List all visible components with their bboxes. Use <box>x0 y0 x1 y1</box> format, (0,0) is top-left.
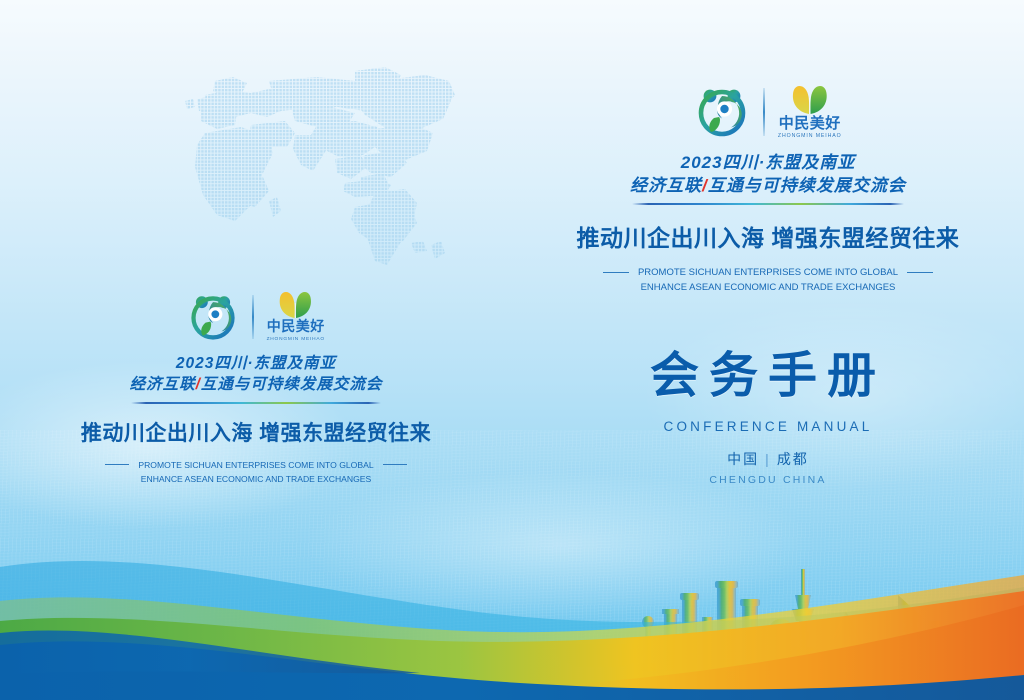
leaf-butterfly-emblem <box>277 291 314 319</box>
front-cover-header: 中民美好 ZHONGMIN MEIHAO 2023四川·东盟及南亚 经济互联/互… <box>512 84 1024 293</box>
manual-title-en: CONFERENCE MANUAL <box>512 419 1024 434</box>
rule-left <box>105 464 129 465</box>
slogan-en-line2: ENHANCE ASEAN ECONOMIC AND TRADE EXCHANG… <box>512 282 1024 293</box>
event-name-line2: 经济互联/互通与可持续发展交流会 <box>0 376 512 395</box>
country-cn: 中国 <box>727 451 759 467</box>
event-name-line1: 2023四川·东盟及南亚 <box>512 153 1024 174</box>
brand-mark: 中民美好 ZHONGMIN MEIHAO <box>778 85 842 140</box>
event-line2-part1: 经济互联 <box>630 176 702 195</box>
gradient-divider <box>632 203 904 205</box>
multicolor-wave-bands <box>0 525 1024 700</box>
back-cover-header: 中民美好 ZHONGMIN MEIHAO 2023四川·东盟及南亚 经济互联/互… <box>0 291 512 484</box>
slogan-cn: 推动川企出川入海 增强东盟经贸往来 <box>0 417 512 447</box>
city-block: 中国|成都 CHENGDU CHINA <box>512 449 1024 486</box>
rule-right <box>907 272 933 273</box>
logo-divider <box>763 88 765 136</box>
brand-name-pinyin: ZHONGMIN MEIHAO <box>267 338 325 343</box>
slogan-en-line1-row: PROMOTE SICHUAN ENTERPRISES COME INTO GL… <box>0 460 512 470</box>
city-name-cn: 成都 <box>777 451 809 467</box>
slogan-en-line1-row: PROMOTE SICHUAN ENTERPRISES COME INTO GL… <box>512 267 1024 278</box>
slogan-cn: 推动川企出川入海 增强东盟经贸往来 <box>512 219 1024 253</box>
manual-title-cn: 会务手册 <box>512 336 1024 407</box>
leaf-butterfly-emblem <box>790 85 830 115</box>
panda-circle-emblem <box>187 291 239 343</box>
city-separator: | <box>759 451 777 467</box>
logo-lockup: 中民美好 ZHONGMIN MEIHAO <box>512 84 1024 140</box>
brand-mark: 中民美好 ZHONGMIN MEIHAO <box>267 291 325 342</box>
slogan-en-line1: PROMOTE SICHUAN ENTERPRISES COME INTO GL… <box>138 460 373 470</box>
slogan-en-line1: PROMOTE SICHUAN ENTERPRISES COME INTO GL… <box>638 267 898 278</box>
event-name-line2: 经济互联/互通与可持续发展交流会 <box>512 176 1024 197</box>
rule-right <box>383 464 407 465</box>
brand-name-cn: 中民美好 <box>267 321 325 335</box>
logo-divider <box>252 295 254 339</box>
cover-spread: 中民美好 ZHONGMIN MEIHAO 2023四川·东盟及南亚 经济互联/互… <box>0 0 1024 700</box>
city-en: CHENGDU CHINA <box>512 474 1024 486</box>
brand-name-cn: 中民美好 <box>779 117 841 132</box>
event-line2-part2: 互通与可持续发展交流会 <box>708 176 906 195</box>
gradient-divider <box>131 402 381 404</box>
city-cn: 中国|成都 <box>512 449 1024 469</box>
brand-name-pinyin: ZHONGMIN MEIHAO <box>778 134 842 139</box>
logo-lockup: 中民美好 ZHONGMIN MEIHAO <box>0 291 512 343</box>
rule-left <box>603 272 629 273</box>
panda-circle-emblem <box>694 84 750 140</box>
event-line2-part1: 经济互联 <box>130 376 196 393</box>
slogan-en-line2: ENHANCE ASEAN ECONOMIC AND TRADE EXCHANG… <box>0 474 512 484</box>
manual-title-block: 会务手册 CONFERENCE MANUAL <box>512 336 1024 434</box>
event-name-line1: 2023四川·东盟及南亚 <box>0 355 512 374</box>
event-line2-part2: 互通与可持续发展交流会 <box>201 376 383 393</box>
